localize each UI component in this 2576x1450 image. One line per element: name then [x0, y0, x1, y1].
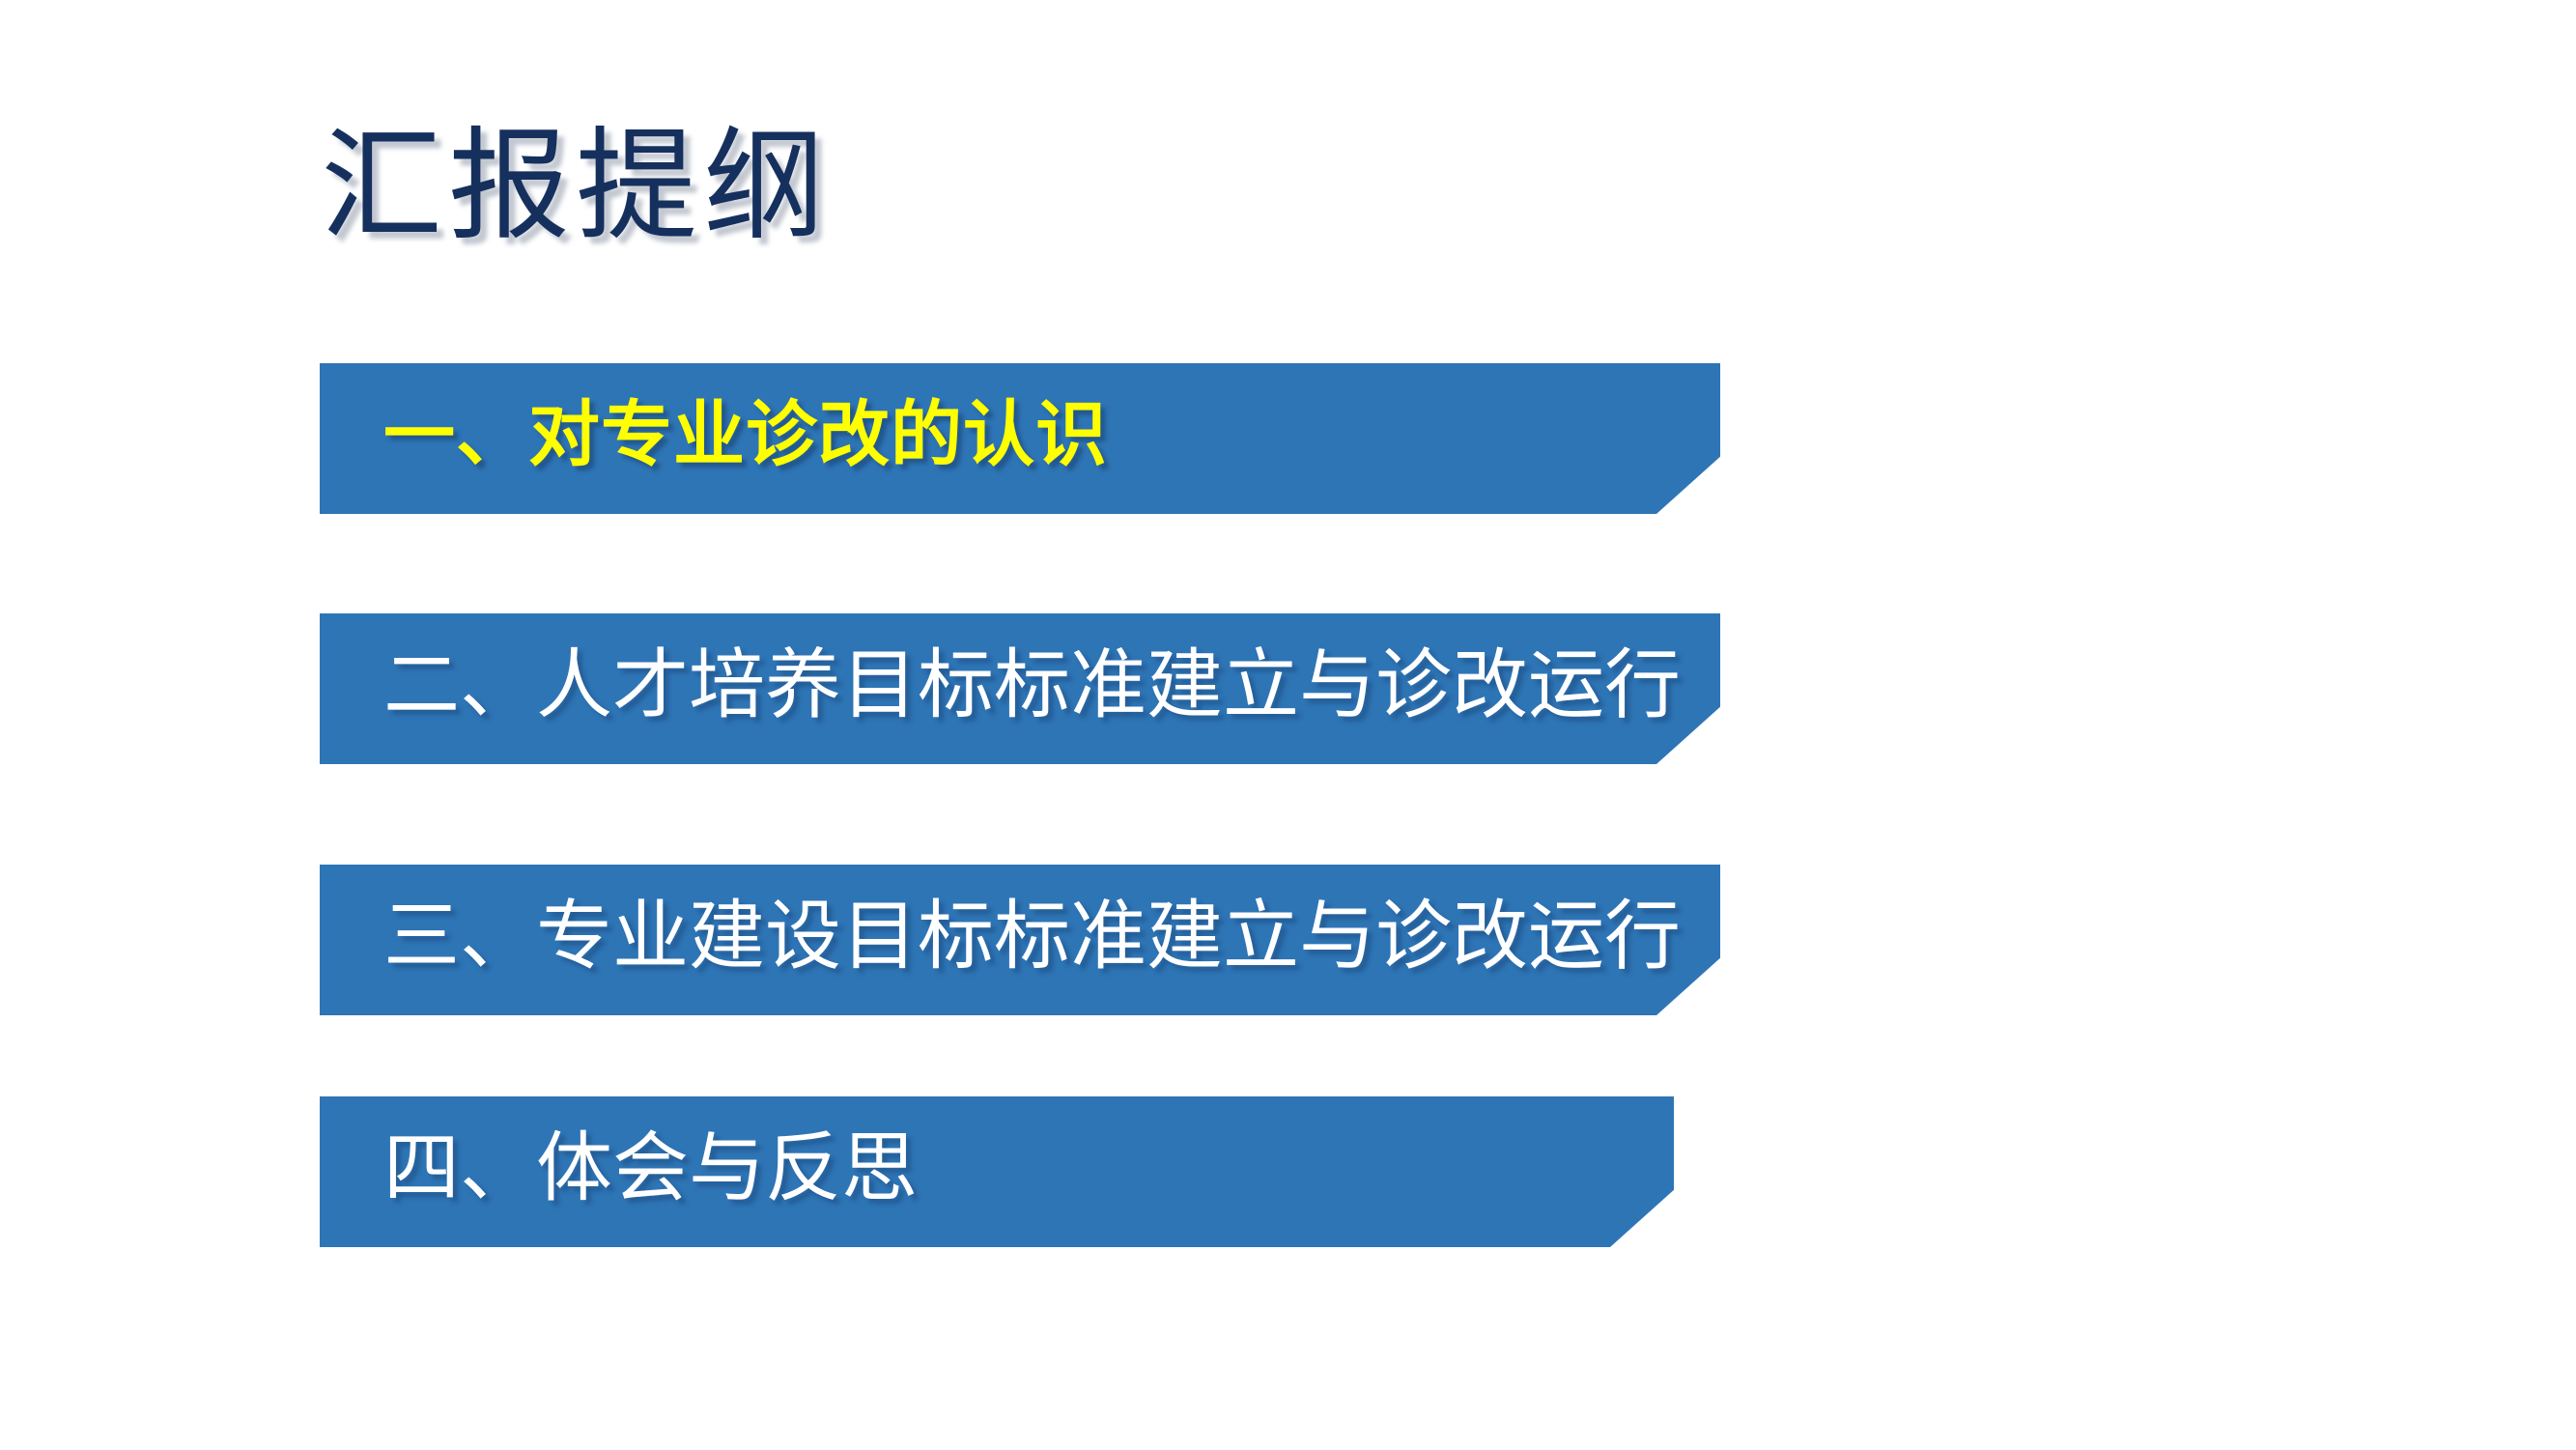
agenda-item-1[interactable]: 一、对专业诊改的认识 — [320, 363, 1720, 514]
agenda-item-3[interactable]: 三、专业建设目标标准建立与诊改运行 — [320, 865, 1720, 1015]
agenda-item-1-label: 一、对专业诊改的认识 — [320, 399, 1108, 470]
agenda-item-4[interactable]: 四、体会与反思 — [320, 1096, 1674, 1247]
agenda-item-2-label: 二、人才培养目标标准建立与诊改运行 — [320, 647, 1681, 724]
agenda-item-2[interactable]: 二、人才培养目标标准建立与诊改运行 — [320, 613, 1720, 764]
agenda-list: 一、对专业诊改的认识 二、人才培养目标标准建立与诊改运行 三、专业建设目标标准建… — [0, 0, 2576, 1450]
presentation-slide: 汇报提纲 一、对专业诊改的认识 二、人才培养目标标准建立与诊改运行 三、专业建设… — [0, 0, 2576, 1450]
agenda-item-3-label: 三、专业建设目标标准建立与诊改运行 — [320, 898, 1681, 975]
agenda-item-4-label: 四、体会与反思 — [320, 1130, 918, 1207]
